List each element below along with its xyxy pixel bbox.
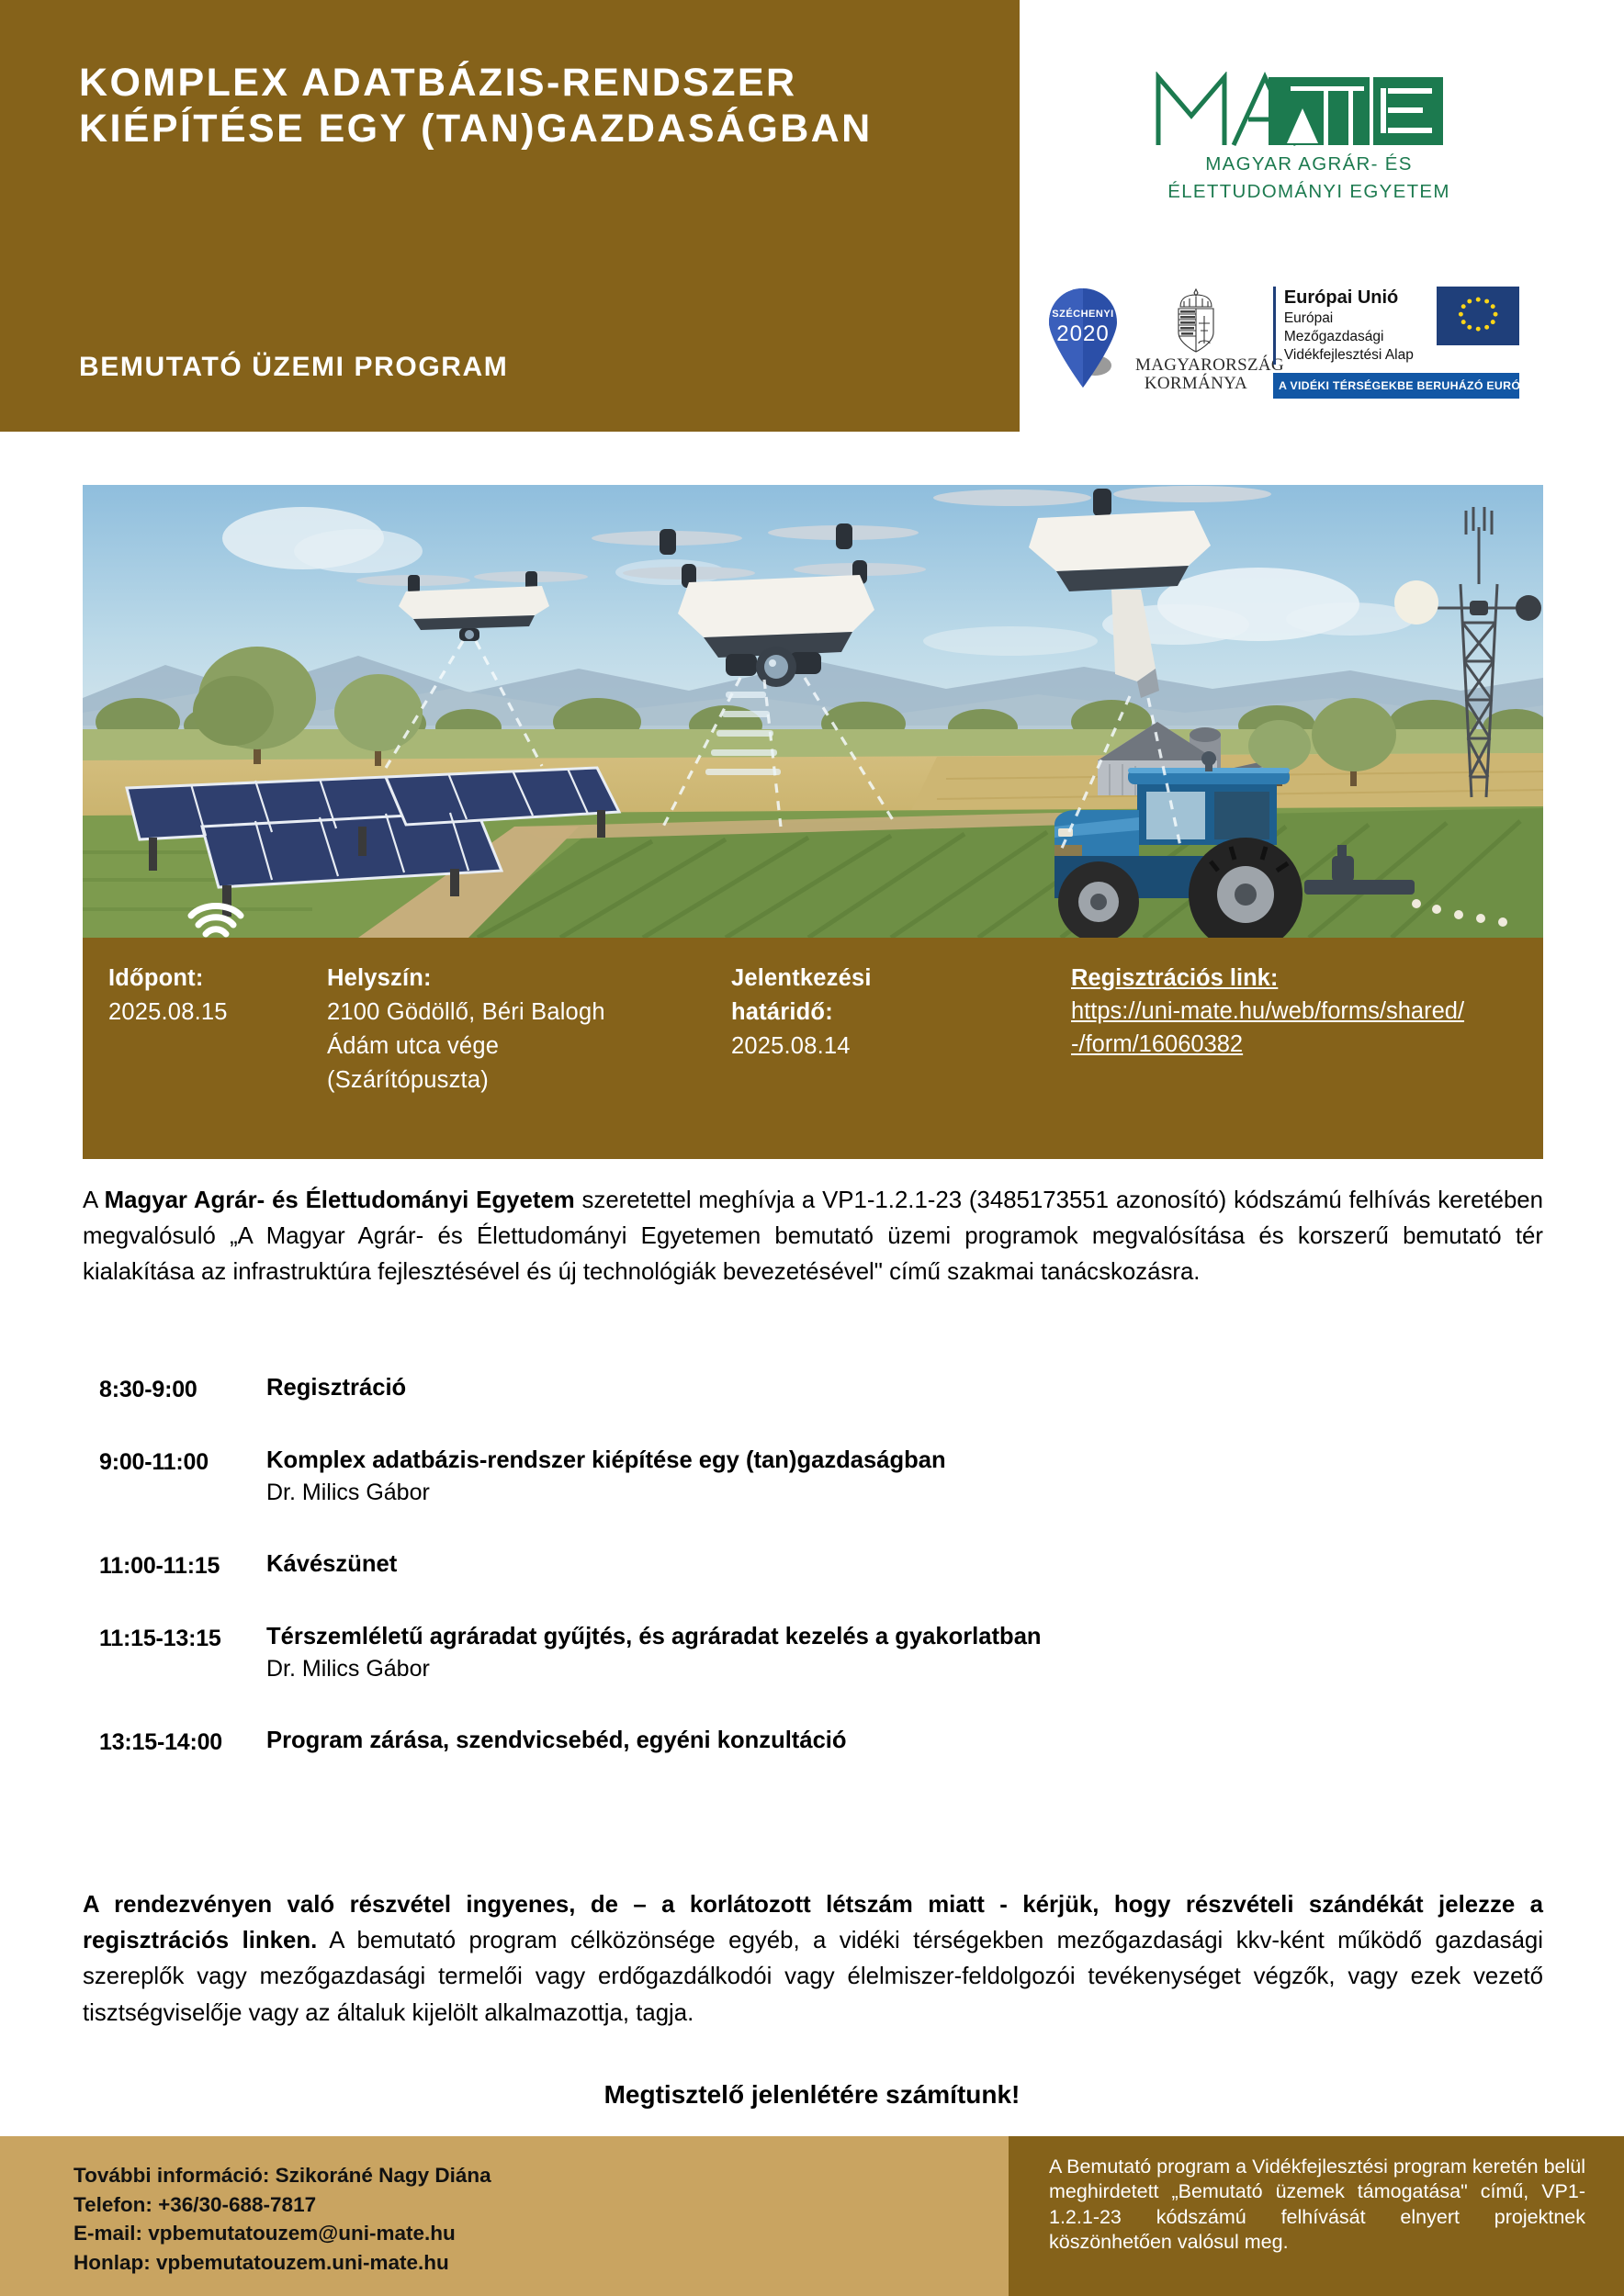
agenda-speaker: Dr. Milics Gábor	[266, 1654, 1516, 1684]
page-subtitle: BEMUTATÓ ÜZEMI PROGRAM	[79, 352, 508, 383]
mate-logo-line1: MAGYAR AGRÁR- ÉS	[1153, 152, 1465, 175]
footer-email[interactable]: E-mail: vpbemutatouzem@uni-mate.hu	[73, 2219, 1009, 2248]
info-deadline-label-line1: Jelentkezési	[731, 962, 1045, 996]
farm-technology-illustration	[83, 485, 1543, 938]
info-deadline: Jelentkezési határidő: 2025.08.14	[718, 962, 1058, 1159]
hungarian-coat-of-arms-icon	[1167, 287, 1224, 355]
event-info-bar: Időpont: 2025.08.15 Helyszín: 2100 Gödöl…	[83, 938, 1543, 1159]
info-deadline-label-line2: határidő:	[731, 996, 1045, 1030]
svg-text:2020: 2020	[1056, 321, 1109, 346]
agenda-time: 13:15-14:00	[83, 1726, 266, 1756]
agenda-title: Térszemléletű agráradat gyűjtés, és agrá…	[266, 1622, 1516, 1652]
funding-logo-strip: SZÉCHENYI 2020	[1047, 287, 1519, 399]
european-union-logo: Európai Unió Európai Mezőgazdasági Vidék…	[1273, 287, 1519, 399]
agenda-row: 13:15-14:00 Program zárása, szendvicsebé…	[83, 1726, 1516, 1756]
eu-banner: A VIDÉKI TÉRSÉGEKBE BERUHÁZÓ EURÓPA	[1273, 373, 1519, 399]
agenda-title: Komplex adatbázis-rendszer kiépítése egy…	[266, 1446, 1516, 1476]
hero-illustration	[83, 485, 1543, 938]
agenda-title: Regisztráció	[266, 1373, 1516, 1403]
registration-link-url[interactable]: https://uni-mate.hu/web/forms/shared/-/f…	[1071, 995, 1477, 1061]
agenda-speaker: Dr. Milics Gábor	[266, 1478, 1516, 1508]
footer-contact-person: További információ: Szikoráné Nagy Diána	[73, 2161, 1009, 2190]
agenda-title: Program zárása, szendvicsebéd, egyéni ko…	[266, 1726, 1516, 1756]
info-date-value: 2025.08.15	[108, 996, 301, 1030]
info-venue-label: Helyszín:	[327, 962, 705, 996]
closing-paragraph: A rendezvényen való részvétel ingyenes, …	[83, 1887, 1543, 2032]
szechenyi-2020-logo: SZÉCHENYI 2020	[1047, 287, 1119, 389]
agenda-row: 9:00-11:00 Komplex adatbázis-rendszer ki…	[83, 1446, 1516, 1507]
agenda-time: 9:00-11:00	[83, 1446, 266, 1476]
agenda-time: 11:15-13:15	[83, 1622, 266, 1652]
info-deadline-value: 2025.08.14	[731, 1030, 1045, 1064]
eu-title: Európai Unió	[1284, 287, 1428, 310]
info-registration: Regisztrációs link: https://uni-mate.hu/…	[1058, 962, 1490, 1159]
page-title: KOMPLEX ADATBÁZIS-RENDSZER KIÉPÍTÉSE EGY…	[79, 61, 998, 152]
hungarian-government-logo: MAGYARORSZÁG KORMÁNYA	[1135, 287, 1257, 393]
info-venue: Helyszín: 2100 Gödöllő, Béri Balogh Ádám…	[314, 962, 718, 1159]
closing-call-to-action: Megtisztelő jelenlétére számítunk!	[0, 2080, 1624, 2110]
agenda-row: 11:15-13:15 Térszemléletű agráradat gyűj…	[83, 1622, 1516, 1683]
eu-line2: Európai Mezőgazdasági	[1284, 310, 1428, 346]
svg-text:SZÉCHENYI: SZÉCHENYI	[1052, 308, 1113, 320]
info-venue-line2: Ádám utca vége	[327, 1030, 705, 1064]
registration-link-label: Regisztrációs link:	[1071, 962, 1477, 995]
hungov-line1: MAGYARORSZÁG	[1135, 356, 1257, 375]
footer-funding-text: A Bemutató program a Vidékfejlesztési pr…	[1009, 2136, 1624, 2255]
eu-flag-icon	[1437, 287, 1519, 345]
agenda-row: 8:30-9:00 Regisztráció	[83, 1373, 1516, 1403]
divider	[1273, 287, 1276, 365]
mate-logo: MAGYAR AGRÁR- ÉS ÉLETTUDOMÁNYI EGYETEM	[1153, 72, 1465, 204]
map-pin-icon: SZÉCHENYI 2020	[1047, 287, 1119, 389]
agenda-title: Kávészünet	[266, 1549, 1516, 1580]
footer-website[interactable]: Honlap: vpbemutatouzem.uni-mate.hu	[73, 2248, 1009, 2278]
info-venue-line1: 2100 Gödöllő, Béri Balogh	[327, 996, 705, 1030]
footer-phone: Telefon: +36/30-688-7817	[73, 2190, 1009, 2220]
info-date: Időpont: 2025.08.15	[83, 962, 314, 1159]
footer-contact-band: További információ: Szikoráné Nagy Diána…	[0, 2136, 1009, 2296]
intro-paragraph: A Magyar Agrár- és Élettudományi Egyetem…	[83, 1183, 1543, 1291]
agenda-time: 11:00-11:15	[83, 1549, 266, 1580]
hungov-line2: KORMÁNYA	[1135, 375, 1257, 393]
intro-prefix: A	[83, 1187, 105, 1213]
agenda-time: 8:30-9:00	[83, 1373, 266, 1403]
agenda-row: 11:00-11:15 Kávészünet	[83, 1549, 1516, 1580]
info-date-label: Időpont:	[108, 962, 301, 996]
footer-funding-band: A Bemutató program a Vidékfejlesztési pr…	[1009, 2136, 1624, 2296]
intro-university-name: Magyar Agrár- és Élettudományi Egyetem	[105, 1187, 575, 1213]
eu-line3: Vidékfejlesztési Alap	[1284, 346, 1428, 365]
agenda-list: 8:30-9:00 Regisztráció 9:00-11:00 Komple…	[83, 1373, 1516, 1756]
mate-logomark-icon	[1153, 72, 1449, 148]
info-venue-line3: (Szárítópuszta)	[327, 1064, 705, 1097]
mate-logo-line2: ÉLETTUDOMÁNYI EGYETEM	[1153, 180, 1465, 203]
